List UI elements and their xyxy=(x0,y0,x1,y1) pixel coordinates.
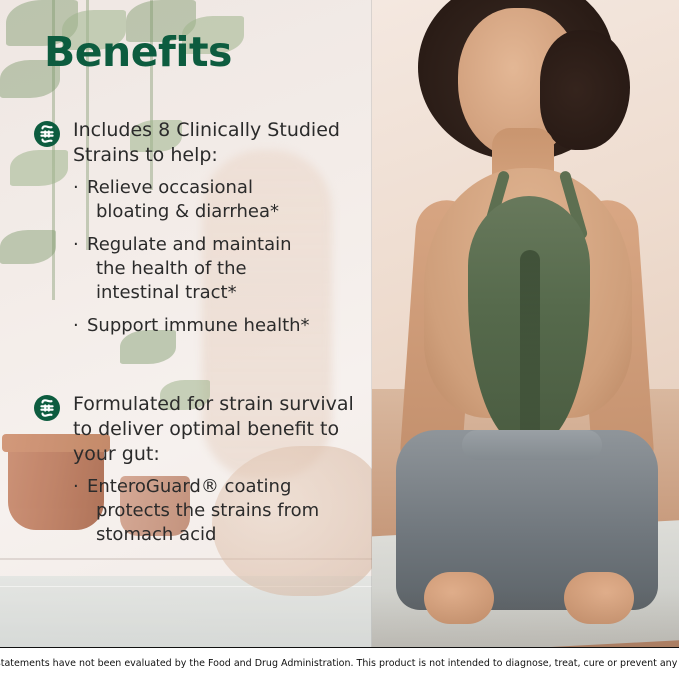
list-item-line: Regulate and maintain xyxy=(87,234,292,255)
benefit-heading-1: Includes 8 Clinically Studied Strains to… xyxy=(73,118,364,168)
list-item-line: bloating & diarrhea* xyxy=(87,200,364,224)
benefits-content: Benefits Includes 8 Clinically Stud xyxy=(0,0,372,648)
list-item-line: Relieve occasional xyxy=(87,177,253,198)
list-item-line: EnteroGuard® coating xyxy=(87,476,291,497)
photo-bottom-shadow xyxy=(372,588,679,648)
photo-top-ruching xyxy=(520,250,540,440)
product-benefits-infographic: Benefits Includes 8 Clinically Stud xyxy=(0,0,679,679)
list-item-line: Support immune health* xyxy=(87,315,310,336)
benefit-heading-2: Formulated for strain survival to delive… xyxy=(73,392,364,467)
benefit-heading-row: Includes 8 Clinically Studied Strains to… xyxy=(34,118,364,168)
disclaimer-text: *These statements have not been evaluate… xyxy=(0,658,679,669)
list-item: · EnteroGuard® coating protects the stra… xyxy=(73,475,364,547)
probiotic-capsule-icon xyxy=(34,395,60,421)
benefit-sublist-1: · Relieve occasional bloating & diarrhea… xyxy=(73,176,364,338)
bullet-dot-icon: · xyxy=(73,233,79,257)
benefit-block-2: Formulated for strain survival to delive… xyxy=(34,392,364,556)
left-content-panel: Benefits Includes 8 Clinically Stud xyxy=(0,0,372,648)
list-item-line: protects the strains from xyxy=(87,499,364,523)
photo-waistband xyxy=(462,430,602,460)
probiotic-capsule-icon xyxy=(34,121,60,147)
bullet-dot-icon: · xyxy=(73,475,79,499)
list-item-line: the health of the xyxy=(87,257,364,281)
list-item: · Support immune health* xyxy=(73,314,364,338)
list-item-line: stomach acid xyxy=(87,523,364,547)
disclaimer-bar: *These statements have not been evaluate… xyxy=(0,647,679,679)
list-item-line: intestinal tract* xyxy=(87,281,364,305)
list-item: · Relieve occasional bloating & diarrhea… xyxy=(73,176,364,224)
lifestyle-photo xyxy=(372,0,679,648)
benefit-heading-row: Formulated for strain survival to delive… xyxy=(34,392,364,467)
bullet-dot-icon: · xyxy=(73,314,79,338)
bullet-dot-icon: · xyxy=(73,176,79,200)
benefit-block-1: Includes 8 Clinically Studied Strains to… xyxy=(34,118,364,347)
list-item: · Regulate and maintain the health of th… xyxy=(73,233,364,305)
panel-divider xyxy=(371,0,372,648)
page-title: Benefits xyxy=(44,28,232,76)
benefit-sublist-2: · EnteroGuard® coating protects the stra… xyxy=(73,475,364,547)
